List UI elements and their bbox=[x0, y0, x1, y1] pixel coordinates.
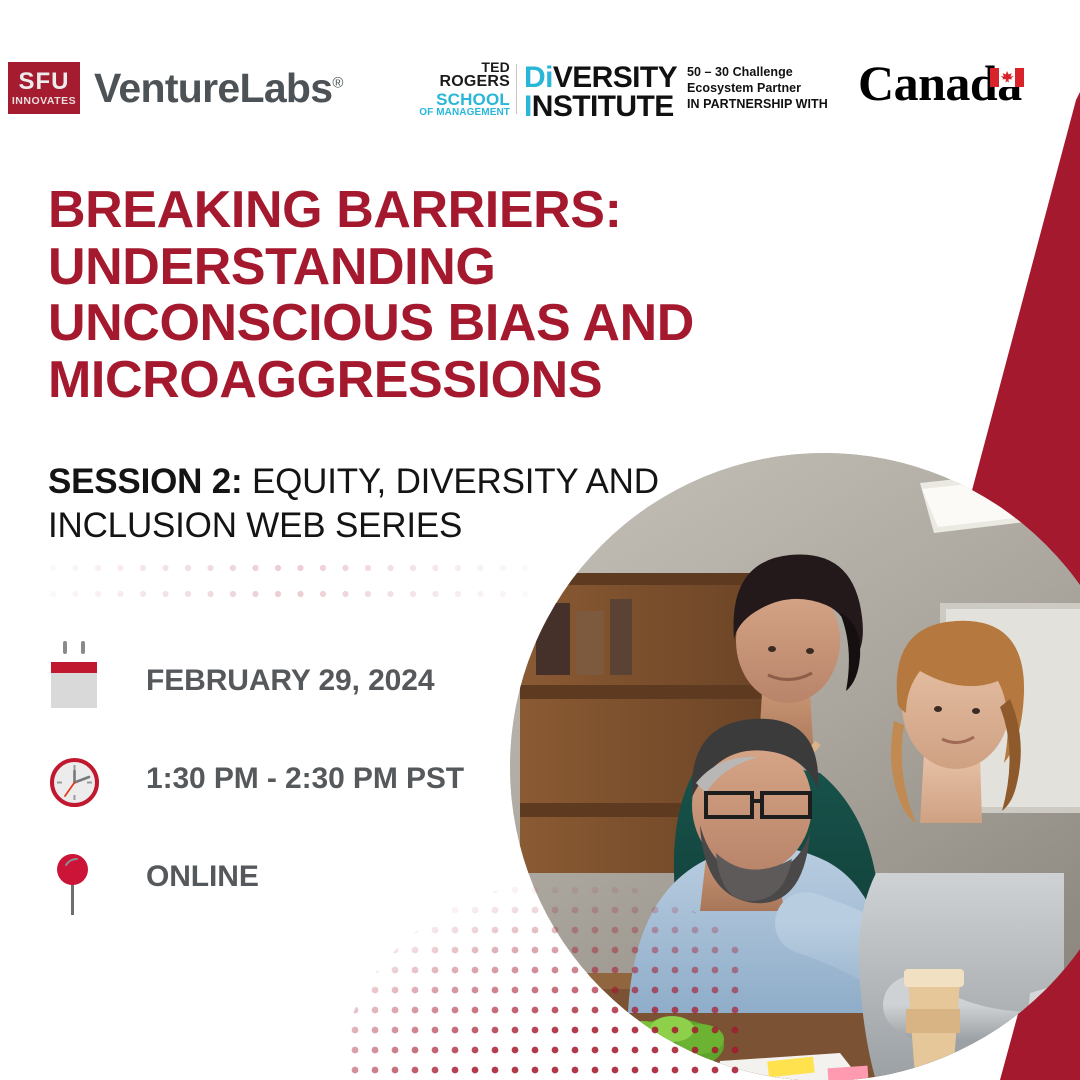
diversity-institute-line-1: DiVERSITY bbox=[524, 64, 677, 93]
venturelabs-text: VentureLabs bbox=[94, 65, 332, 111]
event-date: FEBRUARY 29, 2024 bbox=[146, 664, 434, 698]
event-time: 1:30 PM - 2:30 PM PST bbox=[146, 762, 464, 796]
event-location: ONLINE bbox=[146, 860, 259, 894]
dotted-divider bbox=[48, 560, 528, 612]
title-line-4: MICROAGGRESSIONS bbox=[48, 352, 748, 409]
detail-row-time: 1:30 PM - 2:30 PM PST bbox=[46, 730, 464, 828]
detail-row-date: FEBRUARY 29, 2024 bbox=[46, 632, 464, 730]
di-nstitute: NSTITUTE bbox=[532, 90, 674, 123]
title-line-2: UNDERSTANDING bbox=[48, 239, 748, 296]
ted-rogers-line-4: OF MANAGEMENT bbox=[418, 108, 510, 118]
halftone-sphere-decoration bbox=[330, 845, 750, 1080]
challenge-line-2: Ecosystem Partner bbox=[687, 80, 828, 96]
title-line-1: BREAKING BARRIERS: bbox=[48, 182, 748, 239]
logo-divider bbox=[516, 64, 517, 114]
sfu-mark-bottom: INNOVATES bbox=[12, 96, 76, 107]
sfu-venturelabs-logo: SFU INNOVATES VentureLabs® bbox=[8, 62, 343, 114]
challenge-line-1: 50 – 30 Challenge bbox=[687, 64, 828, 80]
ted-rogers-line-3: SCHOOL bbox=[418, 91, 510, 108]
ted-rogers-line-1: TED bbox=[418, 60, 510, 74]
page-title: BREAKING BARRIERS: UNDERSTANDING UNCONSC… bbox=[48, 182, 748, 409]
sfu-mark-top: SFU bbox=[19, 70, 70, 94]
di-i-letter: I bbox=[524, 90, 532, 123]
ted-rogers-line-2: ROGERS bbox=[418, 74, 510, 90]
challenge-line-3: IN PARTNERSHIP WITH bbox=[687, 96, 828, 112]
event-poster: SFU INNOVATES VentureLabs® TED ROGERS SC… bbox=[0, 0, 1080, 1080]
canada-wordmark: Canada bbox=[858, 54, 1022, 112]
calendar-icon bbox=[46, 648, 104, 714]
registered-trademark-icon: ® bbox=[332, 74, 342, 91]
clock-icon bbox=[46, 746, 104, 812]
venturelabs-wordmark: VentureLabs® bbox=[94, 65, 343, 112]
diversity-institute-logo: DiVERSITY INSTITUTE bbox=[524, 64, 677, 122]
canada-flag-icon bbox=[990, 68, 1024, 87]
location-pin-icon bbox=[46, 844, 104, 910]
ted-rogers-school-logo: TED ROGERS SCHOOL OF MANAGEMENT bbox=[418, 60, 510, 118]
title-line-3: UNCONSCIOUS BIAS AND bbox=[48, 295, 748, 352]
diversity-institute-line-2: INSTITUTE bbox=[524, 93, 677, 122]
subtitle-session-label: SESSION 2: bbox=[48, 462, 242, 501]
sfu-innovates-mark: SFU INNOVATES bbox=[8, 62, 80, 114]
fifty-thirty-challenge-block: 50 – 30 Challenge Ecosystem Partner IN P… bbox=[687, 64, 828, 112]
page-subtitle: SESSION 2: EQUITY, DIVERSITY AND INCLUSI… bbox=[48, 460, 688, 548]
partner-logos-header: SFU INNOVATES VentureLabs® TED ROGERS SC… bbox=[0, 46, 1080, 126]
